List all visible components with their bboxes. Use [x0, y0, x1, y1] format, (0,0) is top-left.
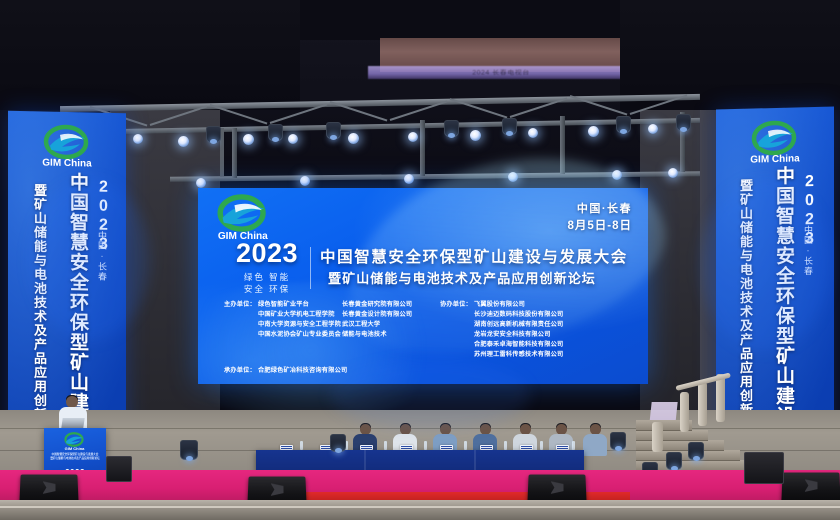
stage-light-a5	[288, 134, 298, 144]
host-label: 主办单位：	[224, 300, 256, 360]
water-bottle	[464, 441, 467, 450]
gim-logo-podium: GIM China	[60, 432, 90, 452]
stage-light-b1	[196, 178, 206, 188]
host-list-2: 长春黄金研究院有限公司 长春黄金设计院有限公司 武汉工程大学 储能与电池技术	[342, 300, 412, 360]
host-item: 中国水泥协会矿山专业委员会	[258, 330, 341, 340]
host-column-2: 长春黄金研究院有限公司 长春黄金设计院有限公司 武汉工程大学 储能与电池技术	[342, 300, 440, 360]
moving-head-truss-1	[206, 126, 221, 143]
stair-step	[636, 430, 708, 441]
moving-head-truss-2	[268, 124, 283, 141]
water-bottle	[572, 441, 575, 450]
stage-light-a6	[348, 133, 359, 144]
cosponsor-item: 合肥泰禾卓海智能科技有限公司	[474, 340, 563, 350]
gim-logo-left: GIM China	[37, 123, 97, 170]
cosponsor-list: 飞翼股份有限公司 长沙迪迈数码科技股份有限公司 湖南创远高新机械有限责任公司 龙…	[474, 300, 563, 360]
title-divider	[310, 247, 311, 289]
slogan-line-2: 安全 环保	[226, 283, 308, 295]
stair-baluster	[716, 374, 725, 422]
equipment-case-right	[744, 452, 784, 484]
cosponsor-item: 飞翼股份有限公司	[474, 300, 563, 310]
moving-head-truss-4	[444, 120, 459, 137]
cosponsor-label: 协办单位：	[440, 300, 472, 360]
gim-logo-main: GIM China	[208, 194, 280, 244]
conference-title-sub: 暨矿山储能与电池技术及产品应用创新论坛	[320, 271, 638, 288]
left-banner-city: 中国·长春	[96, 231, 109, 282]
panelist-torso	[583, 434, 607, 456]
cosponsor-item: 龙岩龙安安全科技有限公司	[474, 330, 563, 340]
moving-head-floor-3	[688, 442, 704, 460]
right-banner-city: 中国·长春	[802, 225, 815, 276]
stage-apron	[0, 500, 840, 520]
stage-monitor-speaker	[781, 473, 840, 503]
stage-light-a7	[408, 132, 418, 142]
year-block: 2023 绿色 智能 安全 环保	[226, 240, 308, 296]
conference-stage-photo: 2024 长春电视台	[0, 0, 840, 520]
cosponsor-item: 湖南创远高新机械有限责任公司	[474, 320, 563, 330]
host-item: 长春黄金研究院有限公司	[342, 300, 412, 310]
event-date-block: 中国·长春 8月5日-8日	[567, 202, 632, 235]
moving-head-stage-3	[610, 432, 626, 450]
host-item: 武汉工程大学	[342, 320, 412, 330]
stage-light-a3	[178, 136, 189, 147]
cosponsor-column: 协办单位： 飞翼股份有限公司 长沙迪迈数码科技股份有限公司 湖南创远高新机械有限…	[440, 300, 636, 360]
host-item: 中南大学资源与安全工程学院	[258, 320, 341, 330]
stage-light-b2	[300, 176, 310, 186]
equipment-case-left	[106, 456, 132, 482]
podium-laptop	[61, 418, 84, 428]
truss-leg-1	[232, 128, 237, 178]
host-item: 储能与电池技术	[342, 330, 412, 340]
stage-light-a11	[648, 124, 658, 134]
slogan-line-1: 绿色 智能	[226, 271, 308, 283]
host-item: 绿色智能矿业平台	[258, 300, 341, 310]
svg-text:GIM China: GIM China	[65, 446, 86, 451]
podium-sign-text: 中国智慧安全环保型矿山建设与发展大会 暨矿山储能与电池技术及产品应用创新论坛	[47, 453, 103, 461]
upper-right-darkness	[620, 0, 840, 110]
event-slogan: 绿色 智能 安全 环保	[226, 271, 308, 296]
title-block: 中国智慧安全环保型矿山建设与发展大会 暨矿山储能与电池技术及产品应用创新论坛	[320, 248, 638, 287]
stage-light-b3	[404, 174, 414, 184]
organizer-block: 承办单位： 合肥绿色矿冶科技咨询有限公司	[224, 365, 347, 374]
water-bottle	[300, 441, 303, 450]
moving-head-stage-1	[180, 440, 198, 460]
conference-title-main: 中国智慧安全环保型矿山建设与发展大会	[320, 248, 638, 267]
stage-light-a8	[470, 130, 481, 141]
host-list-1: 绿色智能矿业平台 中国矿业大学机电工程学院 中南大学资源与安全工程学院 中国水泥…	[258, 300, 341, 360]
host-item: 长春黄金设计院有限公司	[342, 310, 412, 320]
stair-newel-post	[652, 422, 663, 452]
event-location: 中国·长春	[567, 202, 632, 218]
water-bottle	[384, 441, 387, 450]
stair-step	[636, 440, 724, 451]
podium-sign-line2: 暨矿山储能与电池技术及产品应用创新论坛	[47, 457, 103, 461]
stage-light-a9	[528, 128, 538, 138]
water-bottle	[504, 441, 507, 450]
sponsor-block: 主办单位： 绿色智能矿业平台 中国矿业大学机电工程学院 中南大学资源与安全工程学…	[224, 300, 636, 360]
cosponsor-item: 苏州理工雷科传感技术有限公司	[474, 350, 563, 360]
stage-edge-line	[0, 506, 840, 508]
truss-leg-2	[420, 120, 425, 176]
stage-light-a4	[243, 134, 254, 145]
moving-head-floor-2	[666, 452, 682, 470]
stage-light-a10	[588, 126, 599, 137]
stair-baluster	[698, 382, 707, 426]
stair-baluster	[680, 392, 689, 432]
cosponsor-item: 长沙迪迈数码科技股份有限公司	[474, 310, 563, 320]
svg-text:GIM China: GIM China	[42, 157, 92, 169]
moving-head-truss-5	[502, 118, 517, 135]
upper-left-darkness	[0, 0, 300, 110]
led-title-row: 2023 绿色 智能 安全 环保 中国智慧安全环保型矿山建设与发展大会 暨矿山储…	[226, 240, 638, 296]
ceiling-banner-text: 2024 长春电视台	[368, 69, 634, 78]
event-dates: 8月5日-8日	[567, 218, 632, 235]
host-column-1: 主办单位： 绿色智能矿业平台 中国矿业大学机电工程学院 中南大学资源与安全工程学…	[224, 300, 342, 360]
organizer-label: 承办单位：	[224, 365, 256, 374]
moving-head-truss-3	[326, 122, 341, 139]
ceiling-led-strip: 2024 长春电视台	[368, 66, 634, 79]
svg-text:GIM China: GIM China	[750, 153, 800, 165]
stage-light-b6	[668, 168, 678, 178]
main-led-backdrop: GIM China 中国·长春 8月5日-8日 2023 绿色 智能 安全 环保…	[198, 188, 648, 384]
moving-head-truss-6	[616, 116, 631, 133]
gim-logo-right: GIM China	[745, 119, 805, 166]
stage-light-a2	[133, 134, 143, 144]
moving-head-stage-2	[330, 434, 346, 452]
host-item: 中国矿业大学机电工程学院	[258, 310, 341, 320]
organizer-value: 合肥绿色矿冶科技咨询有限公司	[258, 365, 347, 374]
moving-head-truss-7	[676, 114, 691, 131]
water-bottle	[424, 441, 427, 450]
event-year: 2023	[226, 240, 308, 267]
water-bottle	[540, 441, 543, 450]
